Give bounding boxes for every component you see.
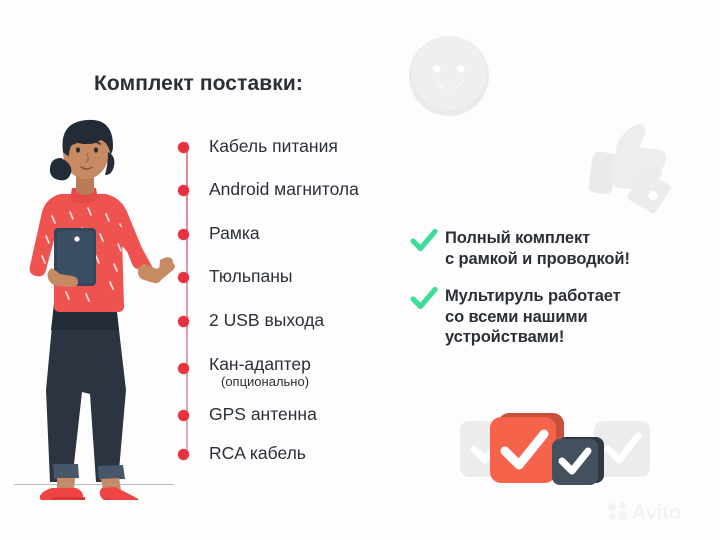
bullet-dot-icon bbox=[178, 229, 189, 240]
thumbs-up-icon bbox=[571, 105, 688, 222]
list-item: RCA кабель bbox=[178, 443, 306, 463]
list-item-label: Рамка bbox=[209, 223, 260, 243]
green-check-icon bbox=[410, 228, 438, 254]
list-item-note: (опционально) bbox=[221, 374, 311, 390]
bullet-dot-icon bbox=[178, 185, 189, 196]
benefit-line-1: Мультируль работает bbox=[445, 286, 621, 307]
bullet-dot-icon bbox=[178, 272, 189, 283]
page-title: Комплект поставки: bbox=[94, 72, 303, 96]
avito-watermark: Avito bbox=[606, 498, 710, 524]
list-item: Кан-адаптер (опционально) bbox=[178, 354, 311, 390]
list-item-label-main: Кан-адаптер bbox=[209, 354, 311, 374]
list-item-label: RCA кабель bbox=[209, 443, 306, 463]
benefit-line-3: устройствами! bbox=[445, 327, 621, 348]
list-item-label: 2 USB выхода bbox=[209, 310, 324, 330]
bullet-dot-icon bbox=[178, 449, 189, 460]
benefit-text: Мультируль работает со всеми нашими устр… bbox=[445, 286, 621, 348]
bullet-dot-icon bbox=[178, 142, 189, 153]
checkbox-cluster-icon bbox=[460, 405, 650, 497]
list-item: Тюльпаны bbox=[178, 266, 292, 286]
smiley-face-icon bbox=[406, 33, 492, 119]
list-item-label: Android магнитола bbox=[209, 179, 359, 199]
bullet-dot-icon bbox=[178, 363, 189, 374]
list-item-label: Кан-адаптер (опционально) bbox=[209, 354, 311, 390]
list-item: Кабель питания bbox=[178, 136, 338, 156]
ground-line bbox=[14, 484, 174, 485]
avito-watermark-label: Avito bbox=[632, 502, 681, 524]
list-item-label: Кабель питания bbox=[209, 136, 338, 156]
list-item-label: GPS антенна bbox=[209, 404, 317, 424]
benefits-list: Полный комплект с рамкой и проводкой! Му… bbox=[410, 228, 680, 365]
list-item: Android магнитола bbox=[178, 179, 359, 199]
list-item: 2 USB выхода bbox=[178, 310, 324, 330]
woman-with-tablet-pointing-illustration bbox=[8, 108, 178, 500]
package-contents-list: Кабель питания Android магнитола Рамка Т… bbox=[178, 132, 418, 462]
benefit-line-1: Полный комплект bbox=[445, 228, 630, 249]
poster-canvas: Комплект поставки: bbox=[0, 0, 720, 540]
bullet-dot-icon bbox=[178, 410, 189, 421]
benefit-item: Полный комплект с рамкой и проводкой! bbox=[410, 228, 680, 269]
green-check-icon bbox=[410, 286, 438, 312]
list-item: GPS антенна bbox=[178, 404, 317, 424]
benefit-line-2: со всеми нашими bbox=[445, 307, 621, 328]
benefit-line-2: с рамкой и проводкой! bbox=[445, 249, 630, 270]
benefit-item: Мультируль работает со всеми нашими устр… bbox=[410, 286, 680, 348]
list-item: Рамка bbox=[178, 223, 260, 243]
list-item-label: Тюльпаны bbox=[209, 266, 292, 286]
benefit-text: Полный комплект с рамкой и проводкой! bbox=[445, 228, 630, 269]
bullet-dot-icon bbox=[178, 316, 189, 327]
